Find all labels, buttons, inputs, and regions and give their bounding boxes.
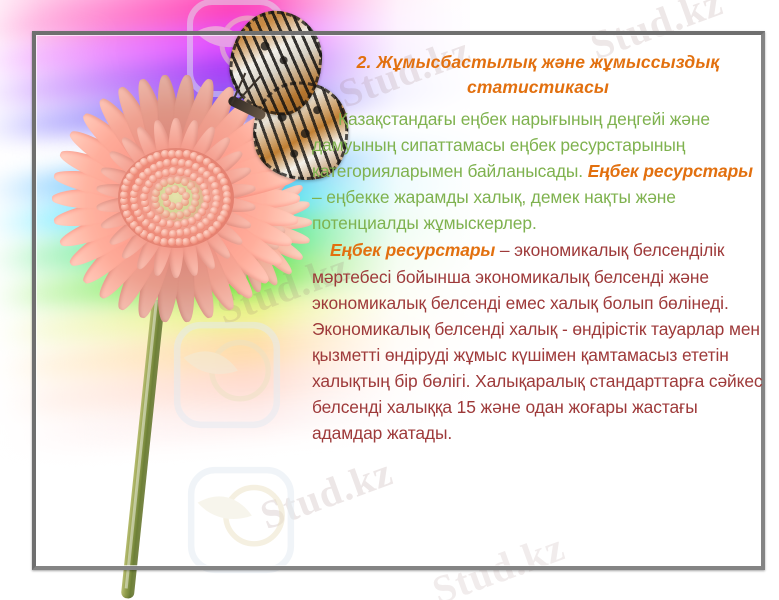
flower-floret	[190, 236, 198, 244]
slide-text-block: 2. Жұмысбастылық және жұмыссыздық статис…	[312, 50, 764, 446]
page-title: 2. Жұмысбастылық және жұмыссыздық статис…	[312, 50, 764, 100]
flower-floret	[182, 192, 190, 200]
flower-floret	[161, 229, 169, 237]
flower-floret	[160, 238, 168, 246]
presentation-slide: Stud.kz - Stud.kz Stud.kz Stud.kz Stud.k…	[0, 0, 779, 600]
flower-floret	[135, 226, 143, 234]
flower-floret	[169, 230, 177, 238]
flower-floret	[188, 217, 196, 225]
paragraph-green-text-after: – еңбекке жарамды халық, демек нақты жән…	[312, 187, 676, 233]
term-labour-resources: Еңбек ресурстары	[588, 161, 753, 181]
paragraph-maroon: Еңбек ресурстары – экономикалық белсенді…	[312, 237, 764, 446]
term-labour-resources: Еңбек ресурстары	[330, 240, 495, 260]
flower-floret	[169, 212, 177, 220]
flower-floret	[188, 205, 196, 213]
paragraph-green: Қазақстандағы еңбек нарығының деңгейі жә…	[312, 106, 764, 236]
paragraph-maroon-text-after: – экономикалық белсенділік мәртебесі бой…	[312, 240, 763, 443]
